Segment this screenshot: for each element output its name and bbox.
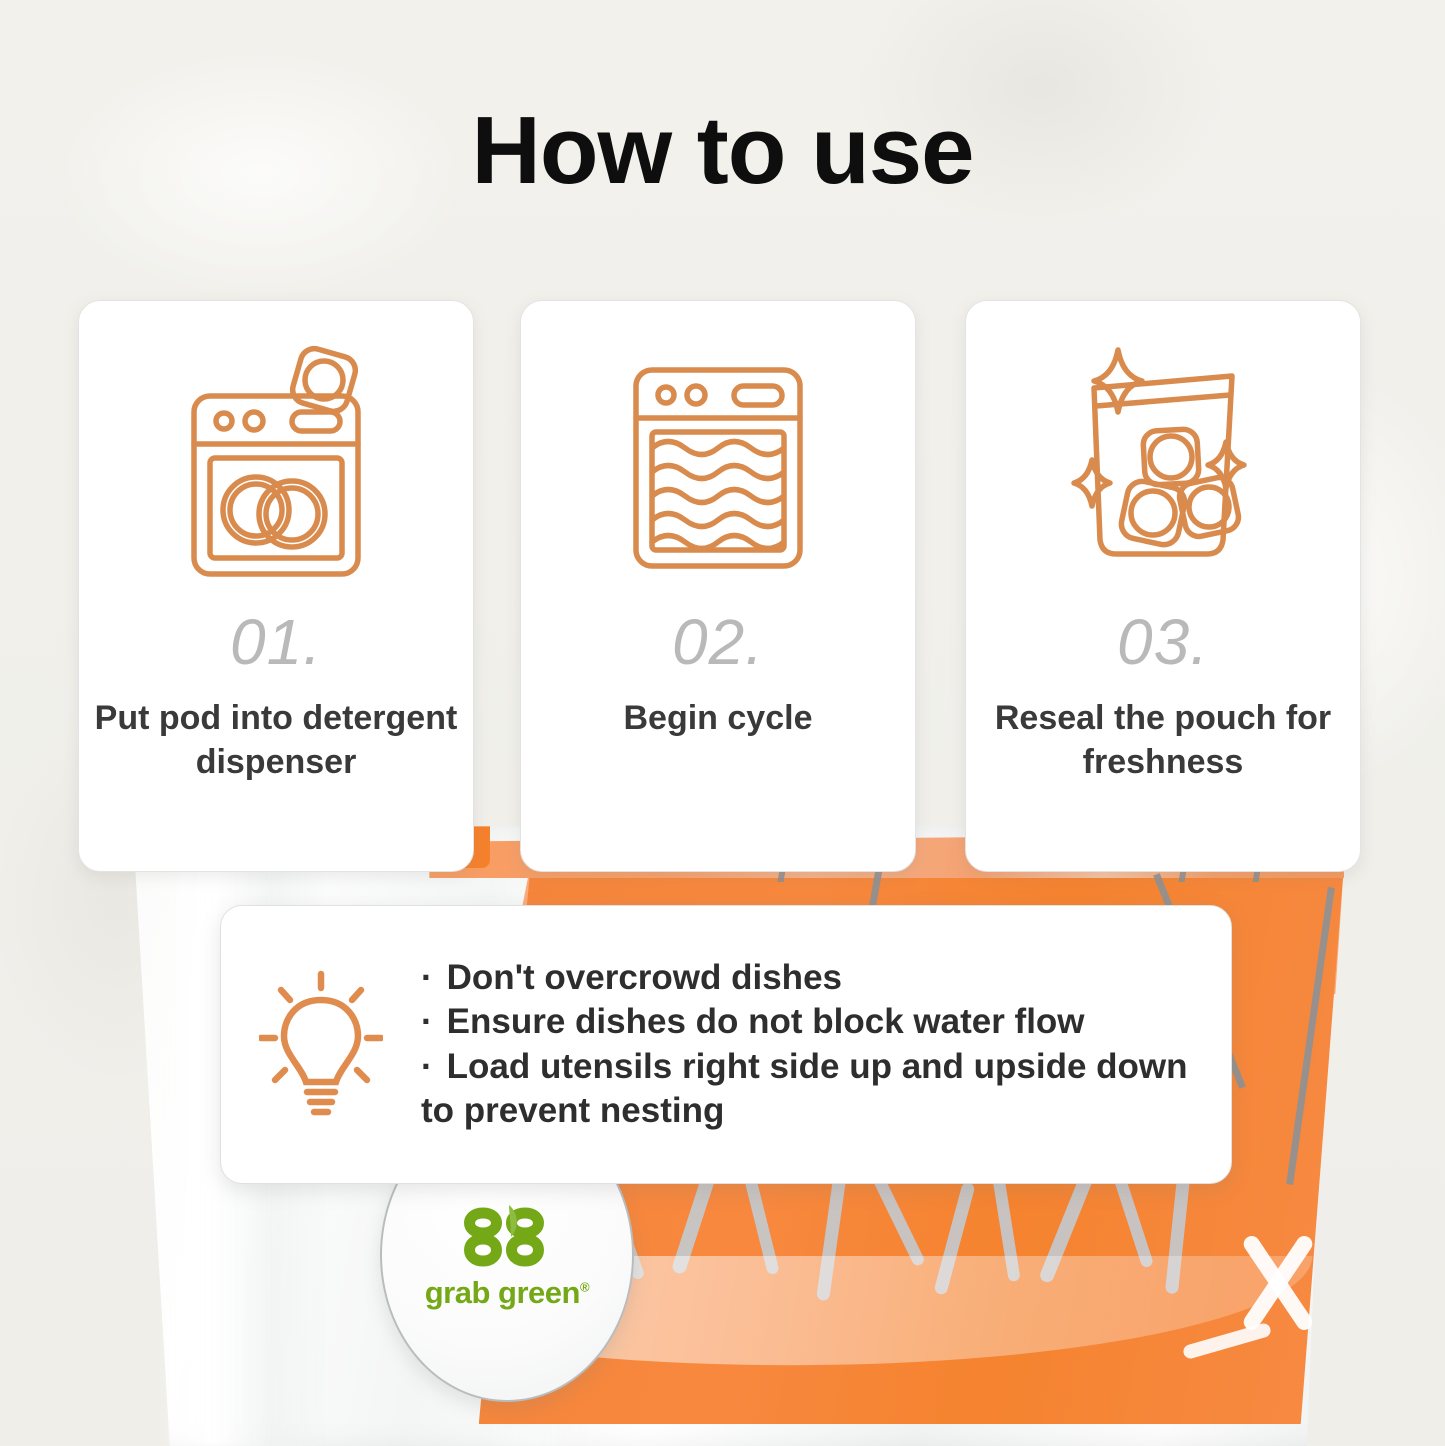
step-number-3: 03.: [1117, 605, 1209, 679]
step-card-2[interactable]: 02. Begin cycle: [520, 300, 916, 872]
tip-bullet: ·: [421, 1047, 433, 1086]
tip-item-2: ·Ensure dishes do not block water flow: [421, 1000, 1191, 1044]
grab-green-leaf-logo-icon: [453, 1199, 561, 1273]
tip-item-1: ·Don't overcrowd dishes: [421, 956, 1191, 1000]
brand-logo-text: grab green®: [425, 1275, 589, 1311]
dishwasher-running-icon: [618, 339, 818, 599]
step-label-1: Put pod into detergent dispenser: [79, 697, 473, 784]
page-title: How to use: [0, 96, 1445, 206]
step-card-3[interactable]: 03. Reseal the pouch for freshness: [965, 300, 1361, 872]
step-label-2: Begin cycle: [610, 697, 827, 741]
tip-item-3: ·Load utensils right side up and upside …: [421, 1045, 1191, 1134]
resealable-pouch-with-pods-icon: [1058, 339, 1268, 599]
step-number-1: 01.: [230, 605, 322, 679]
tips-list: ·Don't overcrowd dishes ·Ensure dishes d…: [421, 956, 1231, 1134]
dishwasher-with-pod-icon: [176, 339, 376, 599]
tip-bullet: ·: [421, 1002, 433, 1041]
tip-text: Load utensils right side up and upside d…: [421, 1047, 1188, 1130]
tip-text: Don't overcrowd dishes: [447, 958, 842, 997]
tips-card[interactable]: ·Don't overcrowd dishes ·Ensure dishes d…: [220, 905, 1232, 1184]
tip-bullet: ·: [421, 958, 433, 997]
lightbulb-icon: [221, 970, 421, 1120]
step-number-2: 02.: [672, 605, 764, 679]
tip-text: Ensure dishes do not block water flow: [447, 1002, 1085, 1041]
step-card-1[interactable]: 01. Put pod into detergent dispenser: [78, 300, 474, 872]
step-label-3: Reseal the pouch for freshness: [966, 697, 1360, 784]
